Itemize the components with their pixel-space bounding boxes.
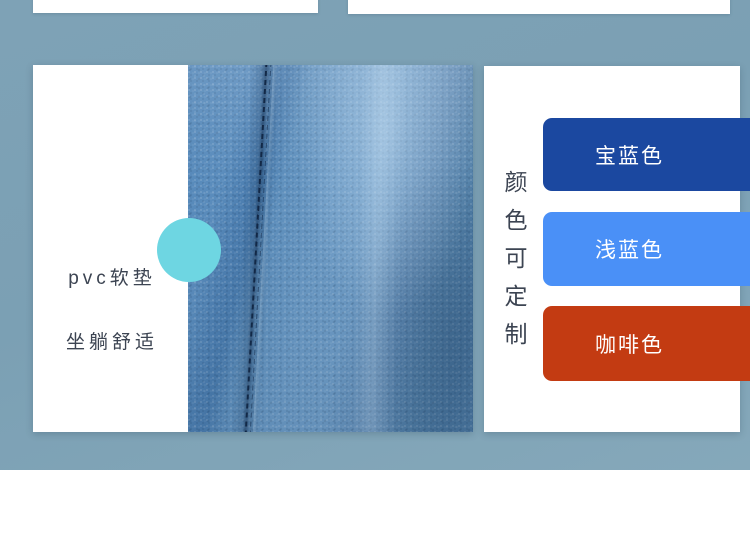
- vertical-label-char-4: 定: [500, 277, 532, 315]
- top-card-right: [348, 0, 730, 14]
- color-swatch-royal-blue[interactable]: 宝蓝色: [543, 118, 750, 191]
- photo-sheen-overlay: [188, 65, 473, 432]
- vertical-label-char-3: 可: [500, 239, 532, 277]
- leather-photo: [188, 65, 473, 432]
- color-panel-vertical-label: 颜 色 可 定 制: [500, 163, 532, 353]
- page-root: pvc软垫 坐躺舒适 颜 色 可 定 制 宝蓝色 浅蓝色 咖啡色: [0, 0, 750, 540]
- feature-slogan-line-1: pvc软垫: [47, 263, 177, 290]
- feature-panel: pvc软垫 坐躺舒适: [33, 65, 473, 432]
- vertical-label-char-2: 色: [500, 201, 532, 239]
- vertical-label-char-1: 颜: [500, 163, 532, 201]
- color-swatch-light-blue[interactable]: 浅蓝色: [543, 212, 750, 286]
- top-card-left: [33, 0, 318, 13]
- feature-slogan-line-2: 坐躺舒适: [47, 327, 177, 354]
- circle-dot-icon: [157, 218, 221, 282]
- color-swatch-coffee[interactable]: 咖啡色: [543, 306, 750, 381]
- vertical-label-char-5: 制: [500, 315, 532, 353]
